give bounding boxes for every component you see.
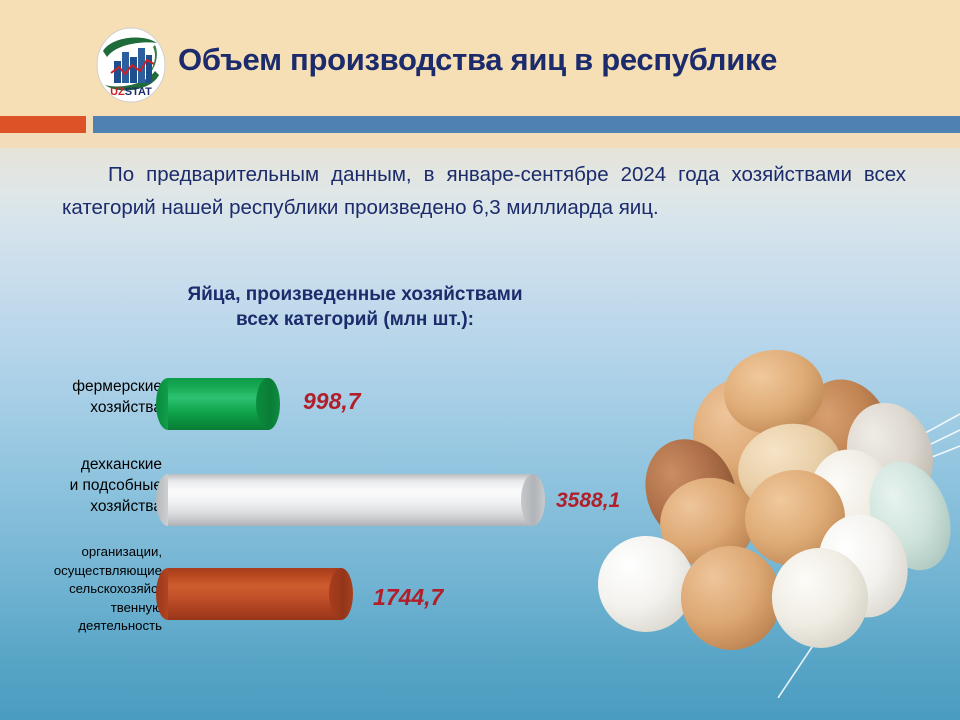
bar-category-label-3: организации, осуществляющие сельскохозяй… <box>10 543 162 636</box>
bar-value-label-3: 1744,7 <box>373 584 443 611</box>
bar-category-label-1-line-1: фермерские <box>10 376 162 397</box>
bar-cylinder-1 <box>168 378 280 430</box>
eggs-photo <box>598 326 960 698</box>
chart-title: Яйца, произведенные хозяйствами всех кат… <box>130 282 580 332</box>
chart-title-line-2: всех категорий (млн шт.): <box>130 307 580 332</box>
page-title: Объем производства яиц в республике <box>178 42 878 78</box>
bar-cylinder-1-right-cap <box>256 378 280 430</box>
bar-category-label-2-line-3: хозяйства <box>10 496 162 517</box>
accent-bar-orange <box>0 116 86 133</box>
bar-value-label-1: 998,7 <box>303 388 361 415</box>
bar-category-label-2-line-2: и подсобные <box>10 475 162 496</box>
bar-category-label-3-line-5: деятельность <box>10 617 162 636</box>
bar-category-label-1: фермерские хозяйства <box>10 376 162 418</box>
bar-category-label-3-line-1: организации, <box>10 543 162 562</box>
svg-text:UZSTAT: UZSTAT <box>110 86 152 98</box>
accent-bar-blue <box>93 116 960 133</box>
bar-cylinder-3-body <box>168 568 341 620</box>
bar-category-label-1-line-2: хозяйства <box>10 397 162 418</box>
uzstat-logo-icon: UZSTAT <box>95 27 167 103</box>
intro-paragraph: По предварительным данным, в январе-сент… <box>62 158 906 224</box>
bar-cylinder-2-right-cap <box>521 474 545 526</box>
bar-cylinder-2-body <box>168 474 533 526</box>
bar-category-label-2: дехканские и подсобные хозяйства <box>10 454 162 517</box>
bar-cylinder-2 <box>168 474 545 526</box>
bar-cylinder-3 <box>168 568 353 620</box>
bar-cylinder-1-body <box>168 378 268 430</box>
bar-category-label-3-line-2: осуществляющие <box>10 562 162 581</box>
slide-root: UZSTAT Объем производства яиц в республи… <box>0 0 960 720</box>
bar-category-label-3-line-4: твенную <box>10 599 162 618</box>
bar-category-label-2-line-1: дехканские <box>10 454 162 475</box>
bar-cylinder-3-right-cap <box>329 568 353 620</box>
bar-category-label-3-line-3: сельскохозяйс- <box>10 580 162 599</box>
chart-title-line-1: Яйца, произведенные хозяйствами <box>130 282 580 307</box>
